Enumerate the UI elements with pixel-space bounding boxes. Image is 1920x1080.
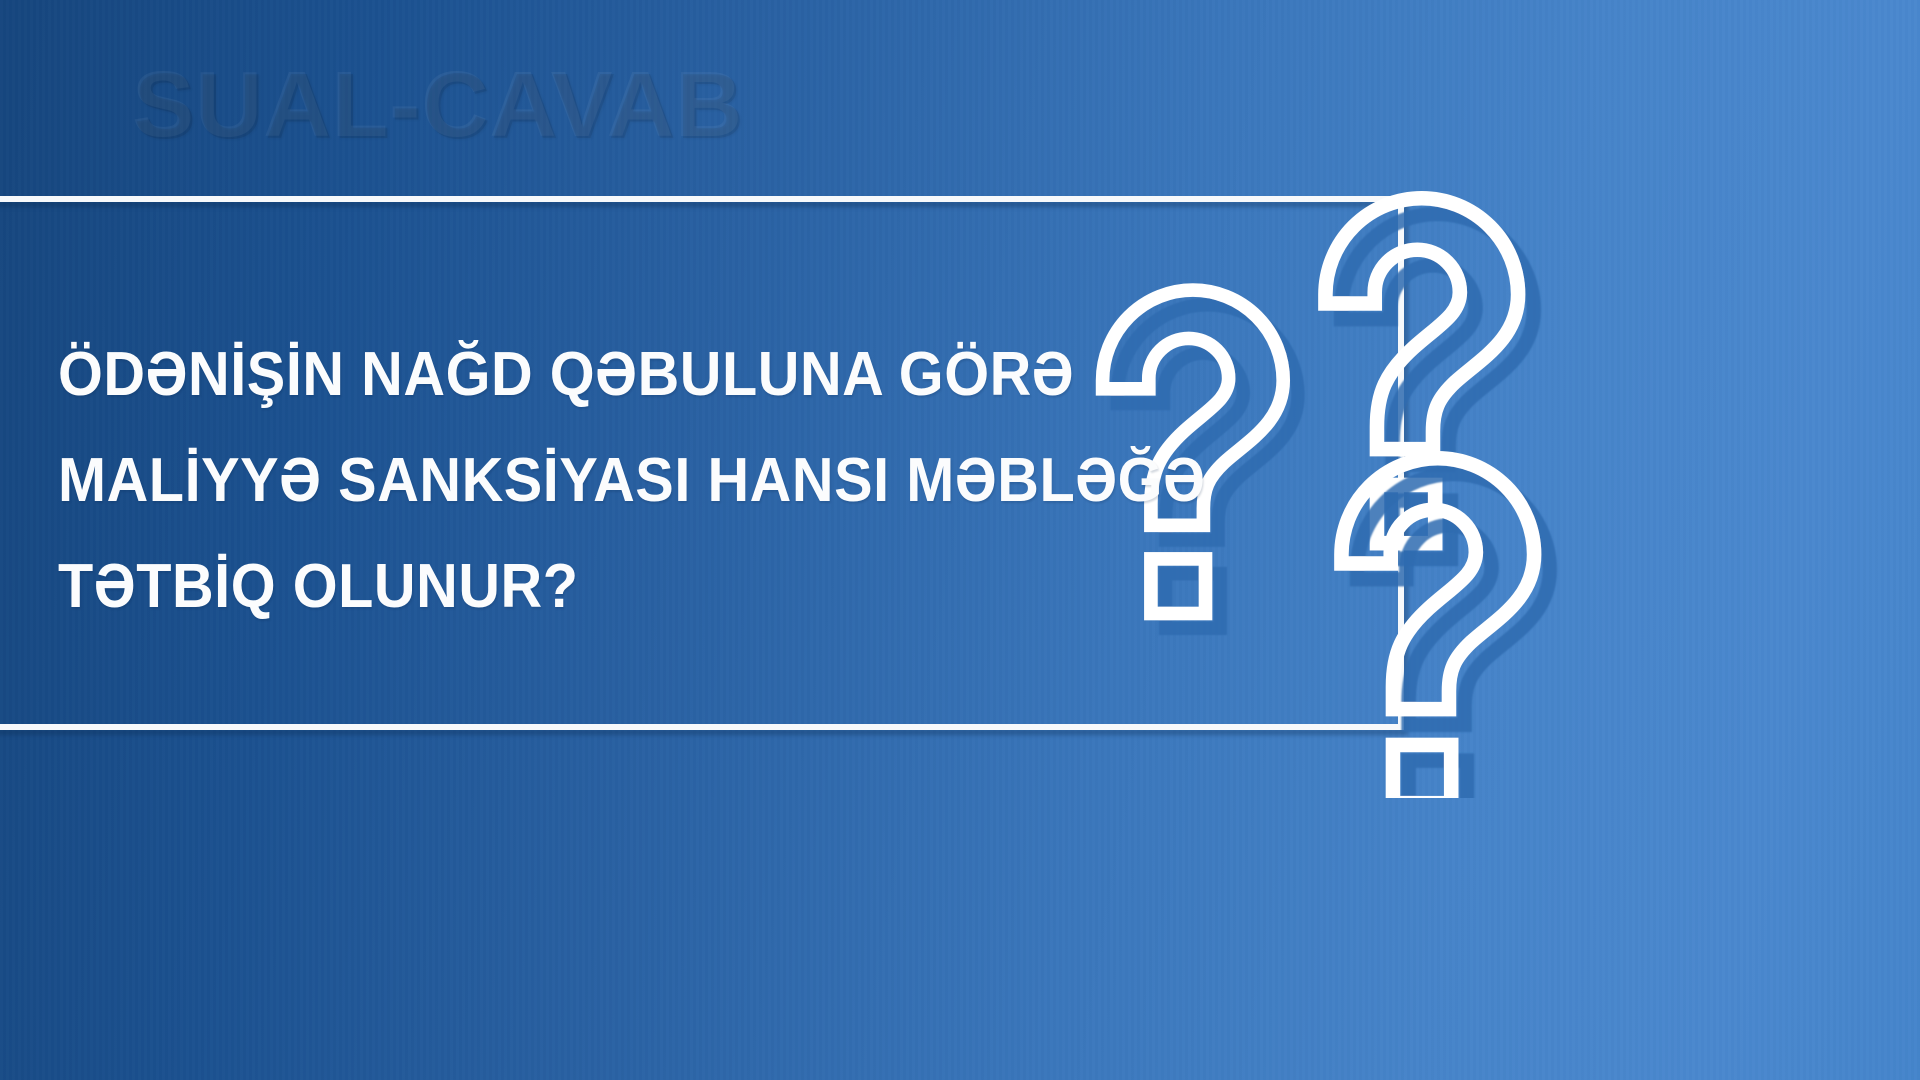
page-title: ÖDƏNİŞİN NAĞD QƏBULUNA GÖRƏ MALİYYƏ SANK… xyxy=(58,322,1138,640)
background-lower-band xyxy=(0,736,1920,1080)
headline-line-1: ÖDƏNİŞİN NAĞD QƏBULUNA GÖRƏ xyxy=(58,322,1062,428)
watermark-sual-cavab: SUAL-CAVAB xyxy=(132,58,743,151)
headline-line-2: MALİYYƏ SANKSİYASI HANSI MƏBLƏĞƏ xyxy=(58,428,1062,534)
slide-canvas: SUAL-CAVAB xyxy=(0,0,1920,1080)
headline-line-3: TƏTBİQ OLUNUR? xyxy=(58,534,1062,640)
